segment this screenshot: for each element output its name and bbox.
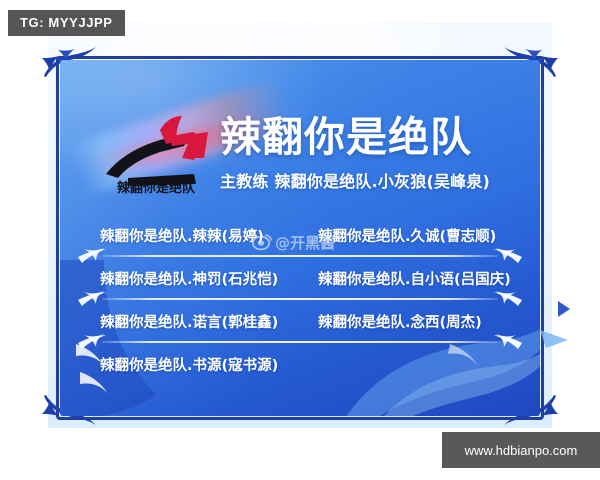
team-logo: 辣翻你是绝队: [98, 112, 214, 196]
roster-entry: 辣翻你是绝队.诺言(郭桂鑫): [100, 311, 278, 332]
roster-entry: 辣翻你是绝队.念西(周杰): [318, 311, 482, 332]
page-title: 辣翻你是绝队: [220, 116, 530, 159]
table-row: 辣翻你是绝队.辣辣(易婷) 辣翻你是绝队.久诚(曹志顺): [60, 220, 540, 263]
table-row: 辣翻你是绝队.书源(寇书源): [60, 349, 540, 392]
team-logo-caption: 辣翻你是绝队: [117, 180, 196, 196]
roster-entry: 辣翻你是绝队.自小语(吕国庆): [318, 268, 511, 289]
divider-line: [102, 341, 498, 343]
row-divider: [78, 292, 522, 306]
roster-entry: 辣翻你是绝队.辣辣(易婷): [100, 225, 264, 246]
roster-entry: 辣翻你是绝队.书源(寇书源): [100, 354, 278, 375]
table-row: 辣翻你是绝队.神罚(石兆恺) 辣翻你是绝队.自小语(吕国庆): [60, 263, 540, 306]
table-row: 辣翻你是绝队.诺言(郭桂鑫) 辣翻你是绝队.念西(周杰): [60, 306, 540, 349]
roster-card: 辣翻你是绝队 辣翻你是绝队 主教练 辣翻你是绝队.小灰狼(吴峰泉) 辣翻你是绝队…: [60, 60, 540, 416]
telegram-watermark: TG: MYYJJPP: [8, 10, 125, 36]
roster-entry: 辣翻你是绝队.久诚(曹志顺): [318, 225, 496, 246]
coach-subtitle: 主教练 辣翻你是绝队.小灰狼(吴峰泉): [220, 168, 530, 192]
site-watermark: www.hdbianpo.com: [442, 432, 600, 468]
divider-line: [102, 255, 498, 257]
divider-line: [102, 298, 498, 300]
accent-triangle-icon: [556, 300, 572, 318]
poster-canvas: 辣翻你是绝队 辣翻你是绝队 主教练 辣翻你是绝队.小灰狼(吴峰泉) 辣翻你是绝队…: [0, 0, 600, 480]
roster-entry: 辣翻你是绝队.神罚(石兆恺): [100, 268, 278, 289]
title-block: 辣翻你是绝队 主教练 辣翻你是绝队.小灰狼(吴峰泉): [220, 116, 530, 192]
roster-list: 辣翻你是绝队.辣辣(易婷) 辣翻你是绝队.久诚(曹志顺) 辣翻你是绝队.神罚(石…: [60, 220, 540, 392]
card-header: 辣翻你是绝队 辣翻你是绝队 主教练 辣翻你是绝队.小灰狼(吴峰泉): [60, 60, 540, 210]
row-divider: [78, 249, 522, 263]
row-divider: [78, 335, 522, 349]
